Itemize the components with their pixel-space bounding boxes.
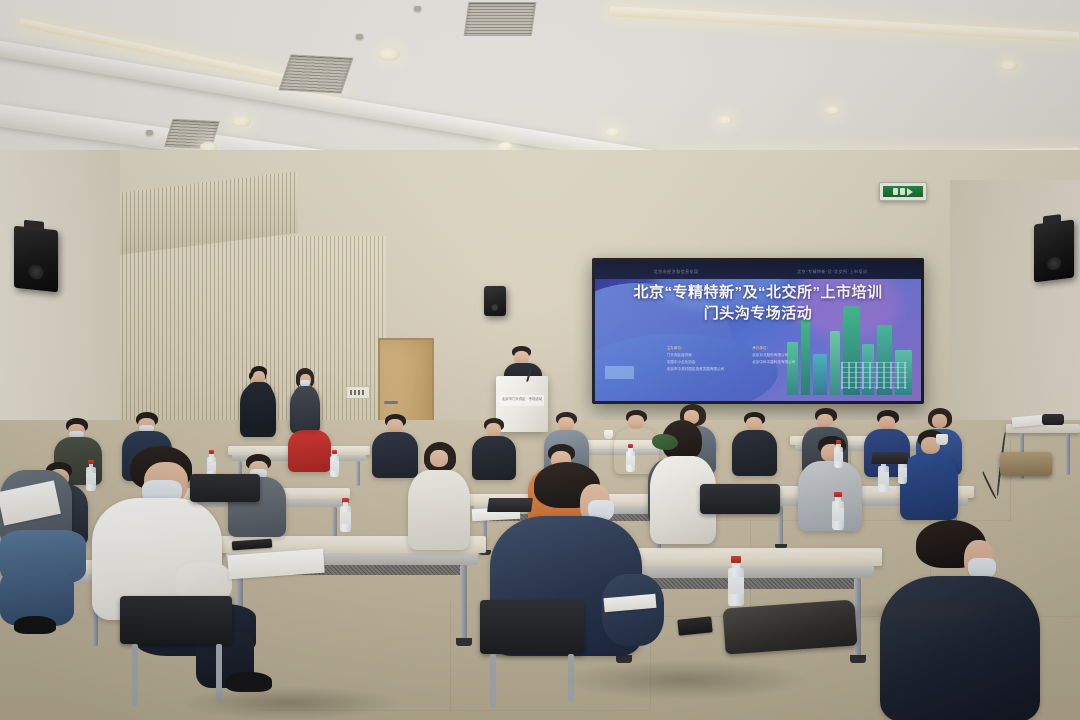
credit-line: 北京中科中捷科技有限公司 bbox=[752, 360, 795, 365]
chair-frame bbox=[490, 654, 496, 708]
water-bottle[interactable] bbox=[626, 444, 635, 472]
torso bbox=[244, 382, 274, 430]
water-bottle[interactable] bbox=[834, 440, 843, 468]
ceiling-downlight bbox=[606, 128, 620, 137]
chair-mid-right[interactable] bbox=[700, 484, 784, 536]
hvac-vent-4 bbox=[464, 2, 537, 36]
screen-credit-column-organizer: 主办单位： 门头沟区经济局 中国中小企业协会 北京市中关村园区投资发展有限公司 bbox=[667, 346, 725, 372]
bottle-label bbox=[728, 577, 744, 594]
floor-shadow bbox=[180, 686, 400, 720]
torso bbox=[880, 576, 1040, 720]
screen-top-band: 北京市经济和信息化局 北京“专精特新”及“北交所”上市培训 bbox=[595, 261, 921, 279]
emergency-exit-sign bbox=[879, 182, 927, 201]
laptop[interactable] bbox=[487, 498, 533, 512]
credit-line: 门头沟区经济局 bbox=[667, 353, 725, 358]
ceiling-downlight bbox=[718, 116, 732, 125]
staff-standing-left bbox=[242, 366, 276, 436]
running-man-icon bbox=[893, 188, 898, 195]
sprinkler-head bbox=[146, 130, 153, 135]
led-video-wall: 北京市经济和信息化局 北京“专精特新”及“北交所”上市培训 北京“专精特新”及“… bbox=[592, 258, 924, 404]
attendee-mid-7 bbox=[900, 430, 966, 526]
screen-credits: 主办单位： 门头沟区经济局 中国中小企业协会 北京市中关村园区投资发展有限公司 … bbox=[667, 346, 796, 372]
torso bbox=[292, 386, 319, 430]
face bbox=[746, 417, 762, 431]
chair-back-right[interactable] bbox=[1000, 452, 1056, 492]
screen-title-line-2: 门头沟专场活动 bbox=[605, 304, 911, 324]
bottle-label bbox=[898, 468, 907, 478]
attendee-back-11 bbox=[730, 412, 780, 478]
chair-front-center[interactable] bbox=[480, 600, 590, 710]
face bbox=[879, 416, 895, 430]
credit-heading: 承办单位： bbox=[752, 346, 795, 351]
bottle-label bbox=[626, 456, 635, 466]
arrow-right-icon bbox=[907, 188, 913, 196]
chair-back bbox=[480, 600, 584, 654]
face bbox=[387, 419, 403, 433]
tea-cup[interactable] bbox=[936, 434, 948, 445]
tea-cup[interactable] bbox=[604, 430, 613, 439]
bottle-label bbox=[207, 462, 216, 472]
screen-surface: 北京市经济和信息化局 北京“专精特新”及“北交所”上市培训 北京“专精特新”及“… bbox=[595, 261, 921, 401]
bottle-label bbox=[340, 512, 351, 524]
chair-mid-left[interactable] bbox=[190, 474, 262, 522]
screen-band-text-left: 北京市经济和信息化局 bbox=[654, 269, 699, 275]
skyline-building bbox=[801, 319, 810, 396]
credit-line: 北京京北股份有限公司 bbox=[752, 353, 795, 358]
skyline-building bbox=[830, 331, 840, 395]
ceiling-downlight bbox=[232, 116, 251, 127]
shoe bbox=[14, 616, 56, 634]
bottle-label bbox=[878, 472, 889, 484]
conference-room-photo: 北京市经济和信息化局 北京“专精特新”及“北交所”上市培训 北京“专精特新”及“… bbox=[0, 0, 1080, 720]
screen-band-text-right: 北京“专精特新”及“北交所”上市培训 bbox=[797, 269, 867, 275]
chair-back bbox=[120, 596, 232, 644]
chair-back bbox=[1000, 452, 1052, 476]
sprinkler-head bbox=[414, 6, 421, 11]
wall-notice-sign bbox=[346, 386, 370, 399]
laptop[interactable] bbox=[871, 452, 908, 464]
chair-back bbox=[190, 474, 260, 502]
water-bottle[interactable] bbox=[330, 450, 339, 477]
ceiling-downlight bbox=[826, 106, 840, 115]
water-bottle[interactable] bbox=[86, 460, 96, 491]
desk-leg bbox=[356, 461, 360, 486]
credit-line: 北京市中关村园区投资发展有限公司 bbox=[667, 367, 725, 372]
bottle-label bbox=[86, 473, 96, 484]
speaker-bracket bbox=[1043, 214, 1061, 225]
floor-shadow bbox=[840, 600, 1000, 626]
desk-foot bbox=[850, 655, 866, 663]
face bbox=[932, 414, 947, 428]
screen-title: 北京“专精特新”及“北交所”上市培训 门头沟专场活动 bbox=[605, 283, 911, 324]
face bbox=[817, 414, 833, 428]
hvac-vent-1 bbox=[278, 54, 353, 93]
torso bbox=[408, 470, 470, 550]
door-handle[interactable] bbox=[384, 401, 398, 404]
screen-corner-accent bbox=[605, 366, 634, 379]
bottle-label bbox=[834, 452, 843, 462]
wall-sign-text bbox=[350, 390, 366, 395]
bottle-label bbox=[330, 461, 339, 470]
torso bbox=[900, 454, 958, 520]
screen-title-line-1: 北京“专精特新”及“北交所”上市培训 bbox=[605, 283, 911, 303]
exit-sign-panel bbox=[883, 186, 923, 197]
wall-speaker-center-left bbox=[484, 286, 506, 316]
wall-speaker-left bbox=[14, 226, 58, 293]
face bbox=[628, 415, 644, 429]
ceiling-downlight bbox=[1000, 60, 1018, 71]
ceiling-downlight bbox=[378, 48, 400, 61]
desk-leg bbox=[460, 565, 467, 641]
face bbox=[558, 417, 574, 431]
water-bottle[interactable] bbox=[728, 556, 744, 606]
laptop-bag[interactable] bbox=[723, 599, 858, 654]
water-bottle[interactable] bbox=[832, 492, 844, 530]
lectern-plate-text: 北京市门头沟区 · 专场活动 bbox=[500, 396, 544, 401]
chair-back bbox=[700, 484, 780, 514]
speaker-cone bbox=[491, 304, 498, 311]
face bbox=[486, 423, 501, 437]
skyline-building bbox=[813, 354, 827, 395]
wall-speaker-right bbox=[1034, 220, 1074, 283]
led-cove-strip-1 bbox=[609, 6, 1079, 42]
credit-line: 中国中小企业协会 bbox=[667, 360, 725, 365]
screen-credit-column-cohost: 承办单位： 北京京北股份有限公司 北京中科中捷科技有限公司 bbox=[752, 346, 795, 372]
face bbox=[430, 450, 448, 467]
speaker-cone bbox=[29, 264, 44, 279]
floor-shadow bbox=[560, 660, 810, 700]
control-desk-equipment bbox=[1042, 414, 1064, 425]
staff-standing-right bbox=[288, 368, 322, 438]
sprinkler-head bbox=[356, 34, 363, 39]
potted-plant bbox=[652, 434, 678, 450]
control-table-leg bbox=[1066, 433, 1070, 475]
skyline-window-grid bbox=[841, 362, 906, 389]
torso bbox=[798, 461, 862, 531]
chair-frame bbox=[132, 644, 138, 706]
speaker-cone bbox=[1047, 256, 1061, 270]
desk-foot bbox=[456, 638, 472, 646]
credit-heading: 主办单位： bbox=[667, 346, 725, 351]
torso bbox=[732, 430, 777, 476]
speaker-bracket bbox=[24, 220, 44, 231]
water-bottle[interactable] bbox=[340, 498, 351, 532]
attendee-mid-3 bbox=[406, 442, 480, 556]
bottle-label bbox=[832, 508, 844, 521]
door-glyph-icon bbox=[900, 188, 905, 195]
